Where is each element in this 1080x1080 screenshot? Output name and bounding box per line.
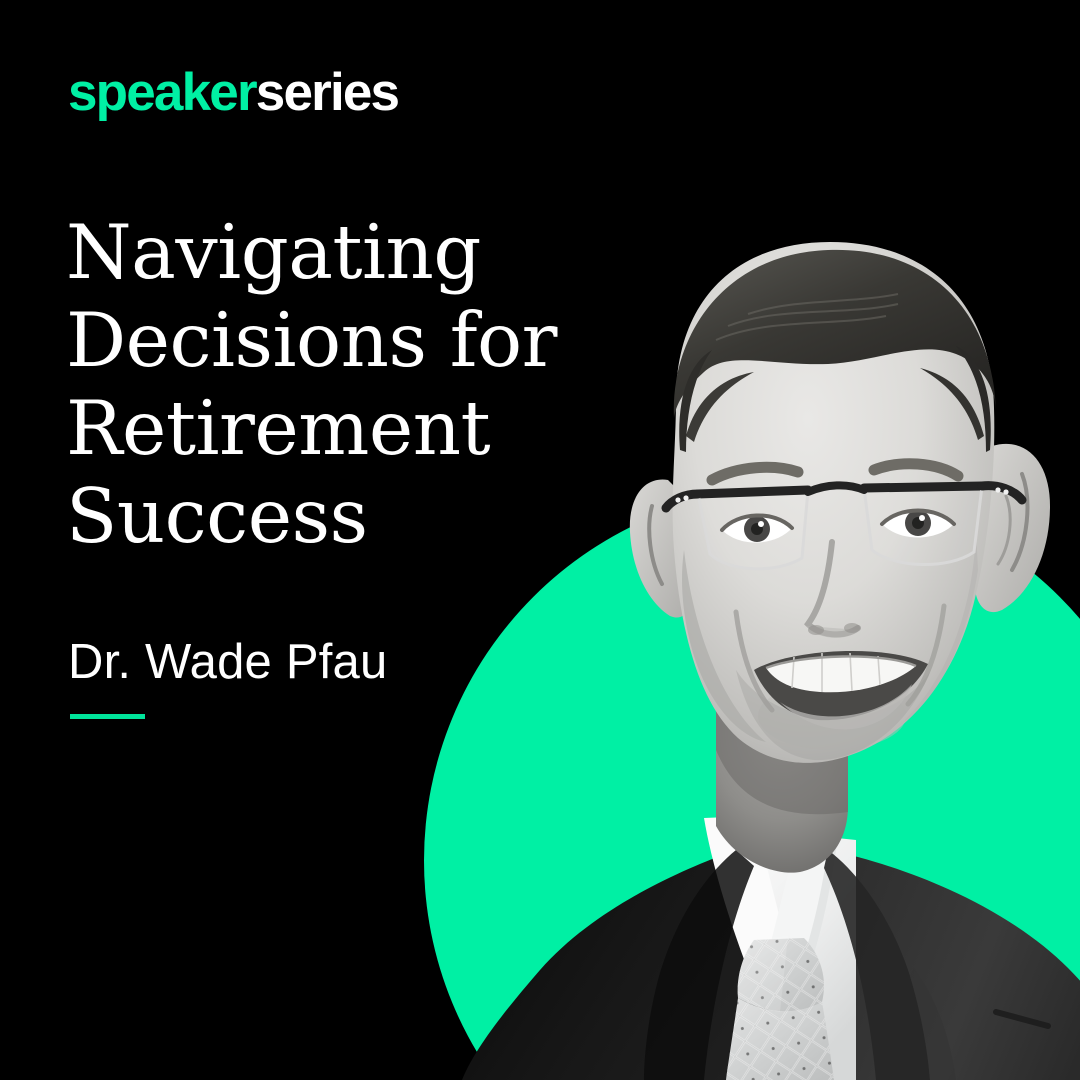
page-title: Navigating Decisions for Retirement Succ… bbox=[66, 208, 586, 560]
speaker-series-logo: speakerseries bbox=[68, 66, 398, 119]
title-line-1: Navigating bbox=[66, 208, 586, 296]
speaker-name: Dr. Wade Pfau bbox=[68, 634, 387, 690]
title-line-2: Decisions for bbox=[66, 296, 586, 384]
title-line-4: Success bbox=[66, 472, 586, 560]
logo-word-speaker: speaker bbox=[68, 63, 256, 122]
green-accent-rule bbox=[70, 714, 145, 719]
title-line-3: Retirement bbox=[66, 384, 586, 472]
speaker-series-poster: speakerseries Navigating Decisions for R… bbox=[0, 0, 1080, 1080]
logo-word-series: series bbox=[256, 63, 398, 122]
